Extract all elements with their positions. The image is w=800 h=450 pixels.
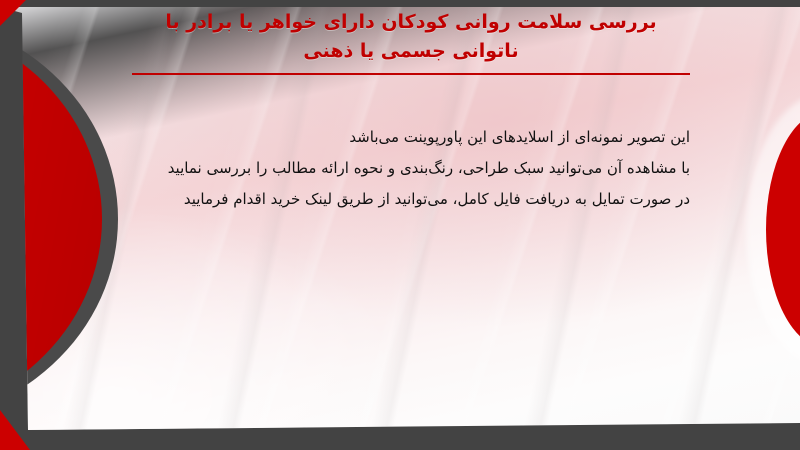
slide-body-line-2: با مشاهده آن می‌توانید سبک طراحی، رنگ‌بن… xyxy=(150,153,690,184)
slide-title: بررسی سلامت روانی کودکان دارای خواهر یا … xyxy=(130,8,692,66)
slide-title-line-2: ناتوانی جسمی یا ذهنی xyxy=(130,37,692,66)
background-light-streaks xyxy=(0,7,800,430)
presentation-slide: بررسی سلامت روانی کودکان دارای خواهر یا … xyxy=(0,0,800,450)
title-underline-rule xyxy=(132,73,690,75)
slide-body-line-1: این تصویر نمونه‌ای از اسلایدهای این پاور… xyxy=(150,122,690,153)
slide-content-panel xyxy=(0,7,800,430)
background-color-wash xyxy=(0,7,800,430)
slide-body-line-3: در صورت تمایل به دریافت فایل کامل، می‌تو… xyxy=(150,184,690,215)
slide-title-line-1: بررسی سلامت روانی کودکان دارای خواهر یا … xyxy=(130,8,692,37)
slide-body-text: این تصویر نمونه‌ای از اسلایدهای این پاور… xyxy=(150,122,690,215)
background-shadow-streaks xyxy=(0,7,800,430)
